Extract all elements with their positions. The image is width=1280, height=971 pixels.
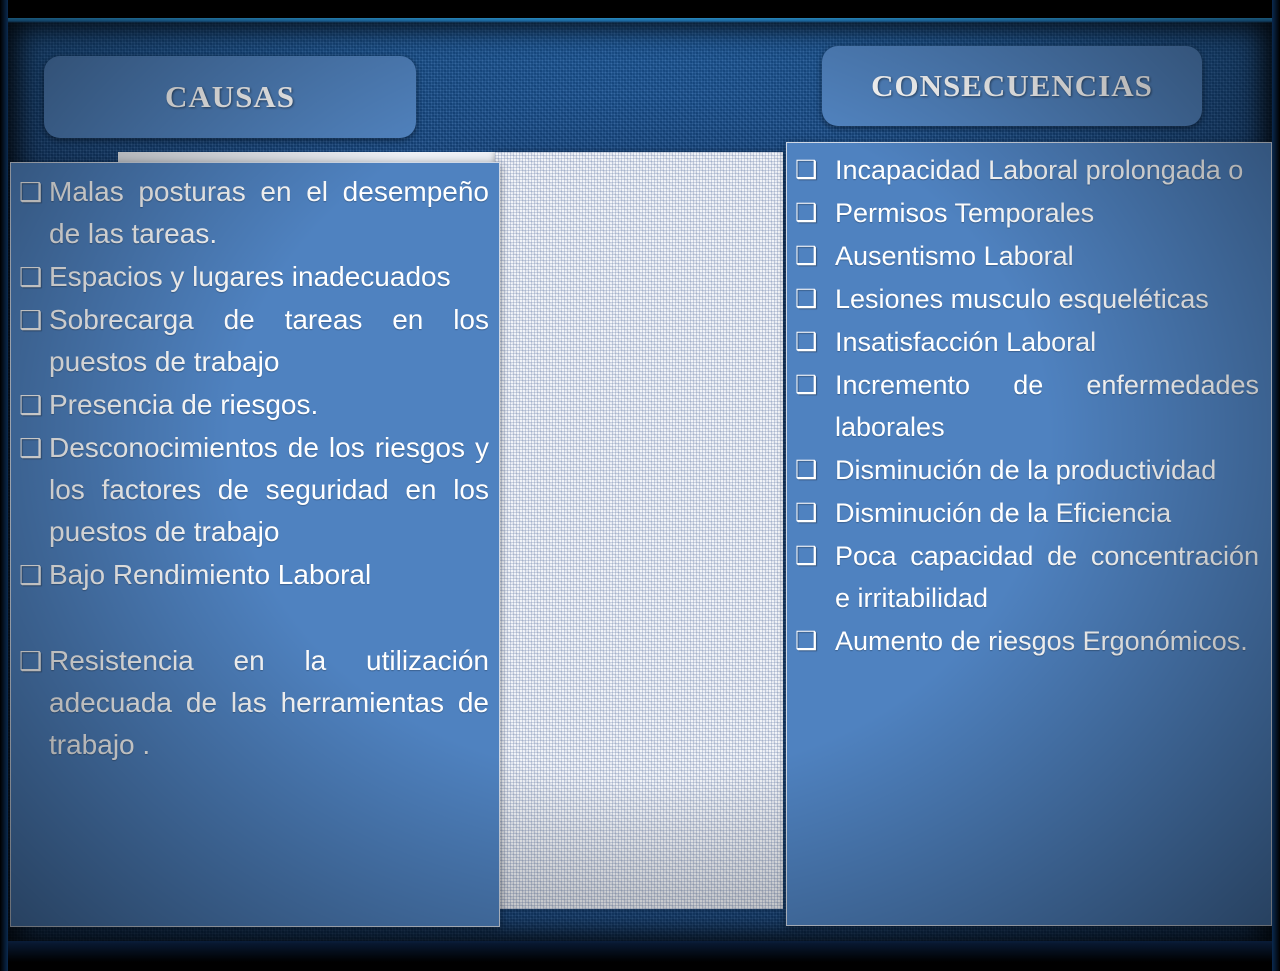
list-item: ❑ Disminución de la Eficiencia [795,492,1259,534]
list-item: ❑ Permisos Temporales [795,192,1259,234]
bottom-letterbox-band [0,941,1280,971]
list-spacer [19,597,489,639]
bullet-square-icon: ❑ [19,171,49,213]
list-item-text: Sobrecarga de tareas en los puestos de t… [49,299,489,383]
bullet-square-icon: ❑ [795,149,835,191]
list-item: ❑ Presencia de riesgos. [19,384,489,426]
list-item-text: Desconocimientos de los riesgos y los fa… [49,427,489,553]
bullet-square-icon: ❑ [795,192,835,234]
bullet-square-icon: ❑ [795,492,835,534]
list-item-text: Ausentismo Laboral [835,235,1259,277]
center-canvas-image [495,152,783,909]
bullet-square-icon: ❑ [795,620,835,662]
list-item-text: Disminución de la Eficiencia [835,492,1259,534]
list-item: ❑ Ausentismo Laboral [795,235,1259,277]
consecuencias-list: ❑ Incapacidad Laboral prolongada o ❑ Per… [795,149,1259,662]
bullet-square-icon: ❑ [19,384,49,426]
bullet-square-icon: ❑ [19,299,49,341]
list-item: ❑ Poca capacidad de concentración e irri… [795,535,1259,619]
right-edge-band [1272,0,1280,971]
consecuencias-title-plate: CONSECUENCIAS [822,46,1202,126]
list-item: ❑ Malas posturas en el desempeño de las … [19,171,489,255]
list-item-text: Presencia de riesgos. [49,384,489,426]
list-item: ❑ Insatisfacción Laboral [795,321,1259,363]
top-letterbox-band [0,0,1280,18]
list-item-text: Poca capacidad de concentración e irrita… [835,535,1259,619]
bullet-square-icon: ❑ [795,364,835,406]
list-item: ❑ Sobrecarga de tareas en los puestos de… [19,299,489,383]
list-item-text: Malas posturas en el desempeño de las ta… [49,171,489,255]
list-item: ❑ Espacios y lugares inadecuados [19,256,489,298]
slide: CAUSAS CONSECUENCIAS ❑ Malas posturas en… [0,0,1280,971]
list-item-text: Incapacidad Laboral prolongada o [835,149,1259,191]
consecuencias-panel: ❑ Incapacidad Laboral prolongada o ❑ Per… [786,142,1272,926]
list-item: ❑ Disminución de la productividad [795,449,1259,491]
list-item-text: Espacios y lugares inadecuados [49,256,489,298]
bullet-square-icon: ❑ [19,256,49,298]
causas-title-text: CAUSAS [165,79,295,115]
list-item-text: Lesiones musculo esqueléticas [835,278,1259,320]
left-edge-band [0,0,8,971]
list-item-text: Resistencia en la utilización adecuada d… [49,640,489,766]
list-item-text: Disminución de la productividad [835,449,1259,491]
list-item: ❑ Desconocimientos de los riesgos y los … [19,427,489,553]
background-top-highlight [8,18,1272,23]
bullet-square-icon: ❑ [19,554,49,596]
list-item: ❑ Incapacidad Laboral prolongada o [795,149,1259,191]
causas-title-plate: CAUSAS [44,56,416,138]
list-item: ❑ Lesiones musculo esqueléticas [795,278,1259,320]
list-item: ❑ Resistencia en la utilización adecuada… [19,640,489,766]
causas-panel: ❑ Malas posturas en el desempeño de las … [10,162,500,927]
list-item-text: Bajo Rendimiento Laboral [49,554,489,596]
bullet-square-icon: ❑ [795,449,835,491]
bullet-square-icon: ❑ [795,321,835,363]
list-item-text: Incremento de enfermedades laborales [835,364,1259,448]
bullet-square-icon: ❑ [795,235,835,277]
consecuencias-title-text: CONSECUENCIAS [871,68,1153,104]
list-item-text: Permisos Temporales [835,192,1259,234]
list-item: ❑ Aumento de riesgos Ergonómicos. [795,620,1259,662]
list-item: ❑ Incremento de enfermedades laborales [795,364,1259,448]
causas-list: ❑ Malas posturas en el desempeño de las … [19,171,489,766]
bullet-square-icon: ❑ [795,535,835,577]
list-item-text: Aumento de riesgos Ergonómicos. [835,620,1259,662]
bullet-square-icon: ❑ [795,278,835,320]
list-item: ❑ Bajo Rendimiento Laboral [19,554,489,596]
bullet-square-icon: ❑ [19,427,49,469]
list-item-text: Insatisfacción Laboral [835,321,1259,363]
bullet-square-icon: ❑ [19,640,49,682]
